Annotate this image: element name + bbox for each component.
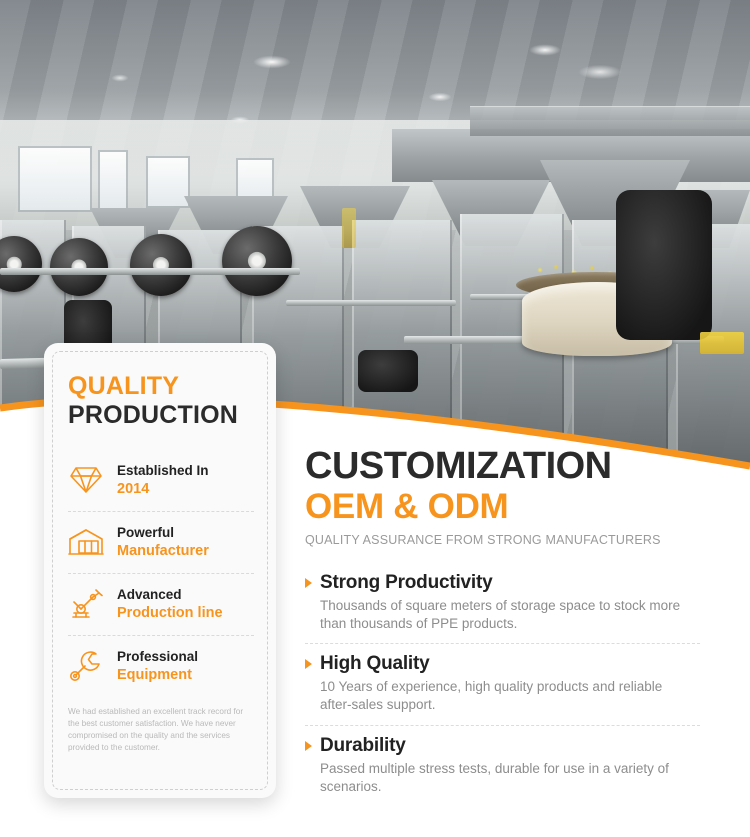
feature-header: Strong Productivity [305,572,700,594]
photo-film-roll [50,238,108,296]
feature-description: 10 Years of experience, high quality pro… [320,678,692,714]
card-item-line1: Established In [117,463,209,478]
photo-duct [470,106,750,136]
tagline: QUALITY ASSURANCE FROM STRONG MANUFACTUR… [305,533,715,547]
feature-list: Strong Productivity Thousands of square … [305,563,700,806]
card-item-line2: Equipment [117,667,192,683]
card-item-equipment: Professional Equipment [68,636,254,697]
card-title-quality: QUALITY [68,373,254,399]
quality-production-card: QUALITY PRODUCTION Es [44,343,276,798]
triangle-bullet-icon [305,741,312,751]
feature-header: Durability [305,735,700,757]
photo-window [20,148,90,210]
card-item-line1: Professional [117,649,198,664]
feature-header: High Quality [305,653,700,675]
photo-window [100,152,126,208]
feature-item: High Quality 10 Years of experience, hig… [305,644,700,725]
feature-description: Thousands of square meters of storage sp… [320,597,692,633]
photo-rail [286,300,456,306]
photo-rail [0,268,300,275]
card-note: We had established an excellent track re… [68,706,254,755]
photo-window [148,158,188,206]
card-item-manufacturer: Powerful Manufacturer [68,512,254,574]
promo-banner: CUSTOMIZATION OEM & ODM QUALITY ASSURANC… [0,0,750,837]
photo-crate [342,208,356,248]
page-title: CUSTOMIZATION [305,447,715,485]
feature-item: Strong Productivity Thousands of square … [305,563,700,644]
photo-crate [700,332,744,354]
triangle-bullet-icon [305,659,312,669]
card-item-production-line: Advanced Production line [68,574,254,636]
diamond-icon [68,462,104,498]
feature-description: Passed multiple stress tests, durable fo… [320,760,692,796]
card-item-line2: Manufacturer [117,543,209,559]
card-item-established: Established In 2014 [68,450,254,512]
feature-title: Durability [320,735,406,757]
feature-title: Strong Productivity [320,572,493,594]
robot-arm-icon [68,586,104,622]
feature-title: High Quality [320,653,430,675]
photo-film-roll [130,234,192,296]
photo-dark-equipment [616,190,712,340]
triangle-bullet-icon [305,578,312,588]
warehouse-icon [68,524,104,560]
photo-film-roll [222,226,292,296]
main-content: CUSTOMIZATION OEM & ODM QUALITY ASSURANC… [305,447,715,806]
card-feature-list: Established In 2014 [68,450,254,698]
card-item-line1: Advanced [117,587,182,602]
card-item-line1: Powerful [117,525,174,540]
page-subtitle: OEM & ODM [305,489,715,526]
wrench-icon [68,648,104,684]
card-item-text: Advanced Production line [117,586,223,622]
card-item-text: Professional Equipment [117,648,198,684]
card-title-production: PRODUCTION [68,401,254,430]
card-item-text: Powerful Manufacturer [117,524,209,560]
card-item-line2: 2014 [117,481,149,497]
card-body: QUALITY PRODUCTION Es [44,343,276,781]
card-item-line2: Production line [117,605,223,621]
card-item-text: Established In 2014 [117,462,209,498]
feature-item: Durability Passed multiple stress tests,… [305,726,700,806]
